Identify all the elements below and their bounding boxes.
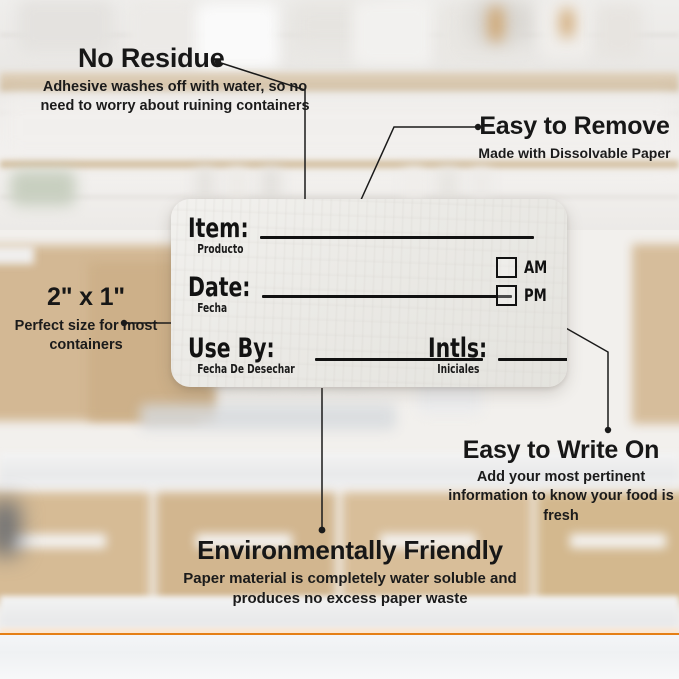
label-field-intls-writeline[interactable]	[498, 358, 567, 361]
shelf-item	[596, 4, 642, 58]
callout-dimensions-body: Perfect size for most containers	[4, 317, 168, 356]
pm-option[interactable]: PM	[496, 285, 551, 306]
dish-rack	[140, 404, 396, 430]
label-field-intls: Intls: Iniciales	[428, 337, 567, 375]
label-field-date-en: Date:	[188, 276, 250, 301]
label-field-item-es: Producto	[197, 243, 248, 255]
callout-dimensions: 2" x 1" Perfect size for most containers	[4, 284, 168, 356]
callout-eco-friendly-title: Environmentally Friendly	[150, 536, 550, 564]
plant-blob	[10, 170, 76, 206]
label-field-item-writeline[interactable]	[260, 236, 534, 239]
shelf-accent	[560, 8, 574, 38]
cabinet-handle	[0, 246, 34, 264]
callout-eco-friendly-body: Paper material is completely water solub…	[150, 569, 550, 609]
label-field-item-term: Item: Producto	[188, 217, 249, 255]
am-label: AM	[524, 258, 547, 278]
label-field-item: Item: Producto	[188, 217, 534, 255]
label-field-intls-es: Iniciales	[437, 363, 487, 375]
callout-easy-remove: Easy to Remove Made with Dissolvable Pap…	[470, 113, 679, 163]
callout-no-residue-body: Adhesive washes off with water, so no ne…	[40, 78, 310, 117]
bottom-surface	[0, 635, 679, 679]
label-field-date-es: Fecha	[197, 302, 250, 314]
label-field-date-writeline[interactable]	[262, 295, 512, 298]
callout-easy-remove-body: Made with Dissolvable Paper	[470, 144, 679, 163]
callout-dimensions-title: 2" x 1"	[4, 284, 168, 311]
callout-write-on-body: Add your most pertinent information to k…	[448, 468, 674, 526]
label-field-intls-term: Intls: Iniciales	[428, 337, 487, 375]
label-field-use-by-en: Use By:	[188, 337, 295, 362]
am-option[interactable]: AM	[496, 257, 551, 278]
callout-easy-remove-title: Easy to Remove	[470, 113, 679, 140]
callout-no-residue: No Residue Adhesive washes off with wate…	[40, 44, 310, 117]
label-field-item-en: Item:	[188, 217, 249, 242]
tile-seam	[0, 196, 679, 198]
shelf-accent	[488, 6, 504, 42]
callout-eco-friendly: Environmentally Friendly Paper material …	[150, 536, 550, 609]
am-pm-checkbox-group: AM PM	[496, 257, 551, 313]
callout-no-residue-title: No Residue	[40, 44, 310, 73]
cabinet-box	[632, 244, 679, 424]
label-field-date-term: Date: Fecha	[188, 276, 250, 314]
label-field-use-by-es: Fecha De Desechar	[197, 363, 295, 375]
callout-write-on: Easy to Write On Add your most pertinent…	[448, 437, 674, 526]
drawer-front	[0, 492, 150, 604]
product-label-card: Item: Producto Date: Fecha Use By: Fecha…	[171, 199, 567, 387]
pm-checkbox-icon[interactable]	[496, 285, 517, 306]
pm-label: PM	[524, 286, 547, 306]
drawer-handle	[570, 534, 666, 548]
appliance-blob	[0, 500, 20, 556]
callout-write-on-title: Easy to Write On	[448, 437, 674, 464]
am-checkbox-icon[interactable]	[496, 257, 517, 278]
shelf-item	[352, 0, 434, 66]
label-field-date: Date: Fecha	[188, 276, 512, 314]
product-infographic: No Residue Adhesive washes off with wate…	[0, 0, 679, 679]
drawer-handle	[10, 534, 106, 548]
label-field-intls-en: Intls:	[428, 337, 487, 362]
label-field-use-by-term: Use By: Fecha De Desechar	[188, 337, 295, 375]
